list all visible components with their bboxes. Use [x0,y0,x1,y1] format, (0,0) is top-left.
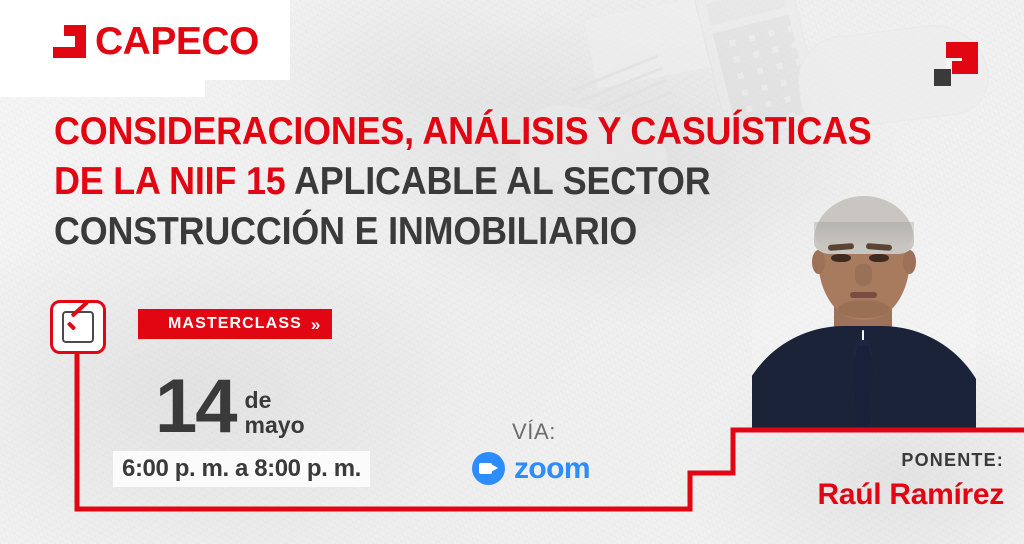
page-title: CONSIDERACIONES, ANÁLISIS Y CASUÍSTICAS … [54,107,818,257]
title-line-3: CONSTRUCCIÓN E INMOBILIARIO [54,210,637,253]
event-date: 14 de mayo [155,374,305,440]
double-chevron-right-icon: » [311,316,318,333]
checkbox-check-icon [62,311,94,343]
platform-via-label: VÍA: [512,419,556,445]
masterclass-banner[interactable]: MASTERCLASS » [138,309,332,339]
event-day: 14 [155,374,236,440]
speaker-role-label: PONENTE: [0,450,1004,471]
header-white-step [0,80,205,97]
title-line-2-red: DE LA NIIF 15 [54,160,286,203]
decorative-corner-mark-icon [934,42,982,88]
capeco-wordmark: CAPECO [95,22,259,61]
capeco-mark-icon [53,25,86,58]
event-month: mayo [245,413,305,438]
event-date-connector: de [245,388,305,413]
title-line-1: CONSIDERACIONES, ANÁLISIS Y CASUÍSTICAS [54,110,872,153]
masterclass-label: MASTERCLASS [168,315,302,333]
masterclass-badge[interactable]: MASTERCLASS » [50,300,106,354]
promo-flyer: CAPECO CONSIDERACIONES, ANÁLISIS Y CASUÍ… [0,0,1024,544]
speaker-name: Raúl Ramírez [0,478,1004,512]
event-month-wrap: de mayo [245,388,305,438]
title-line-2-dark: APLICABLE AL SECTOR [286,160,711,203]
capeco-logo[interactable]: CAPECO [53,22,259,61]
checkbox-badge-box [50,300,106,354]
